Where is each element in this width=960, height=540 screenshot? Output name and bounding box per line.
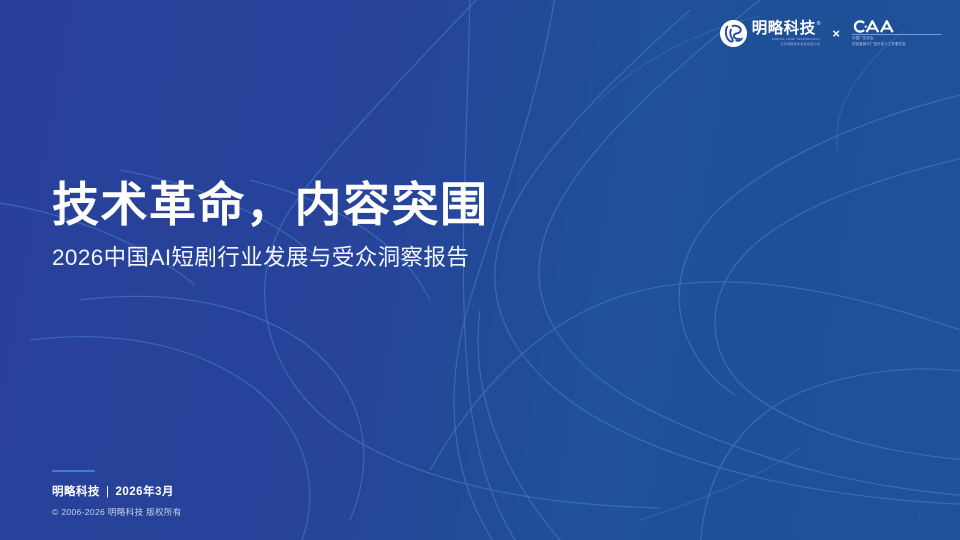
primary-logo-entity-cn: 北京明略软件系统有限公司 [752, 42, 821, 46]
footer-accent-divider [52, 470, 95, 473]
footer-meta: 明略科技|2026年3月 [52, 485, 182, 500]
header-logo-lockup: 明略科技 ® MINING LAMP TECHNOLOGY 北京明略软件系统有限… [720, 20, 942, 47]
partner-logo-sub-line1: 中国广告协会 [852, 36, 874, 41]
partner-logo-rule [852, 34, 942, 35]
circular-swirl-mark-icon [720, 20, 747, 47]
title-block: 技术革命，内容突围 2026中国AI短剧行业发展与受众洞察报告 [52, 178, 489, 272]
primary-logo-name-cn: 明略科技 [752, 21, 816, 37]
caa-wordmark-icon [852, 20, 908, 33]
title-slide: 明略科技 ® MINING LAMP TECHNOLOGY 北京明略软件系统有限… [0, 0, 960, 540]
registered-trademark-icon: ® [817, 21, 821, 28]
partner-logo[interactable]: 中国广告协会 内容营销与广告代言人工作委员会 [852, 20, 942, 46]
page-number: 1 [917, 512, 922, 522]
footer-copyright: © 2006-2026 明略科技 版权所有 [52, 507, 182, 518]
primary-logo[interactable]: 明略科技 ® MINING LAMP TECHNOLOGY 北京明略软件系统有限… [720, 20, 821, 47]
footer: 明略科技|2026年3月 © 2006-2026 明略科技 版权所有 [52, 470, 182, 519]
page-title: 技术革命，内容突围 [52, 178, 489, 232]
footer-divider: | [100, 486, 116, 498]
footer-company: 明略科技 [52, 486, 100, 498]
logo-separator-x-icon: × [831, 27, 841, 40]
footer-date: 2026年3月 [116, 486, 174, 498]
partner-logo-sub-line2: 内容营销与广告代言人工作委员会 [852, 42, 906, 47]
page-subtitle: 2026中国AI短剧行业发展与受众洞察报告 [52, 244, 489, 272]
